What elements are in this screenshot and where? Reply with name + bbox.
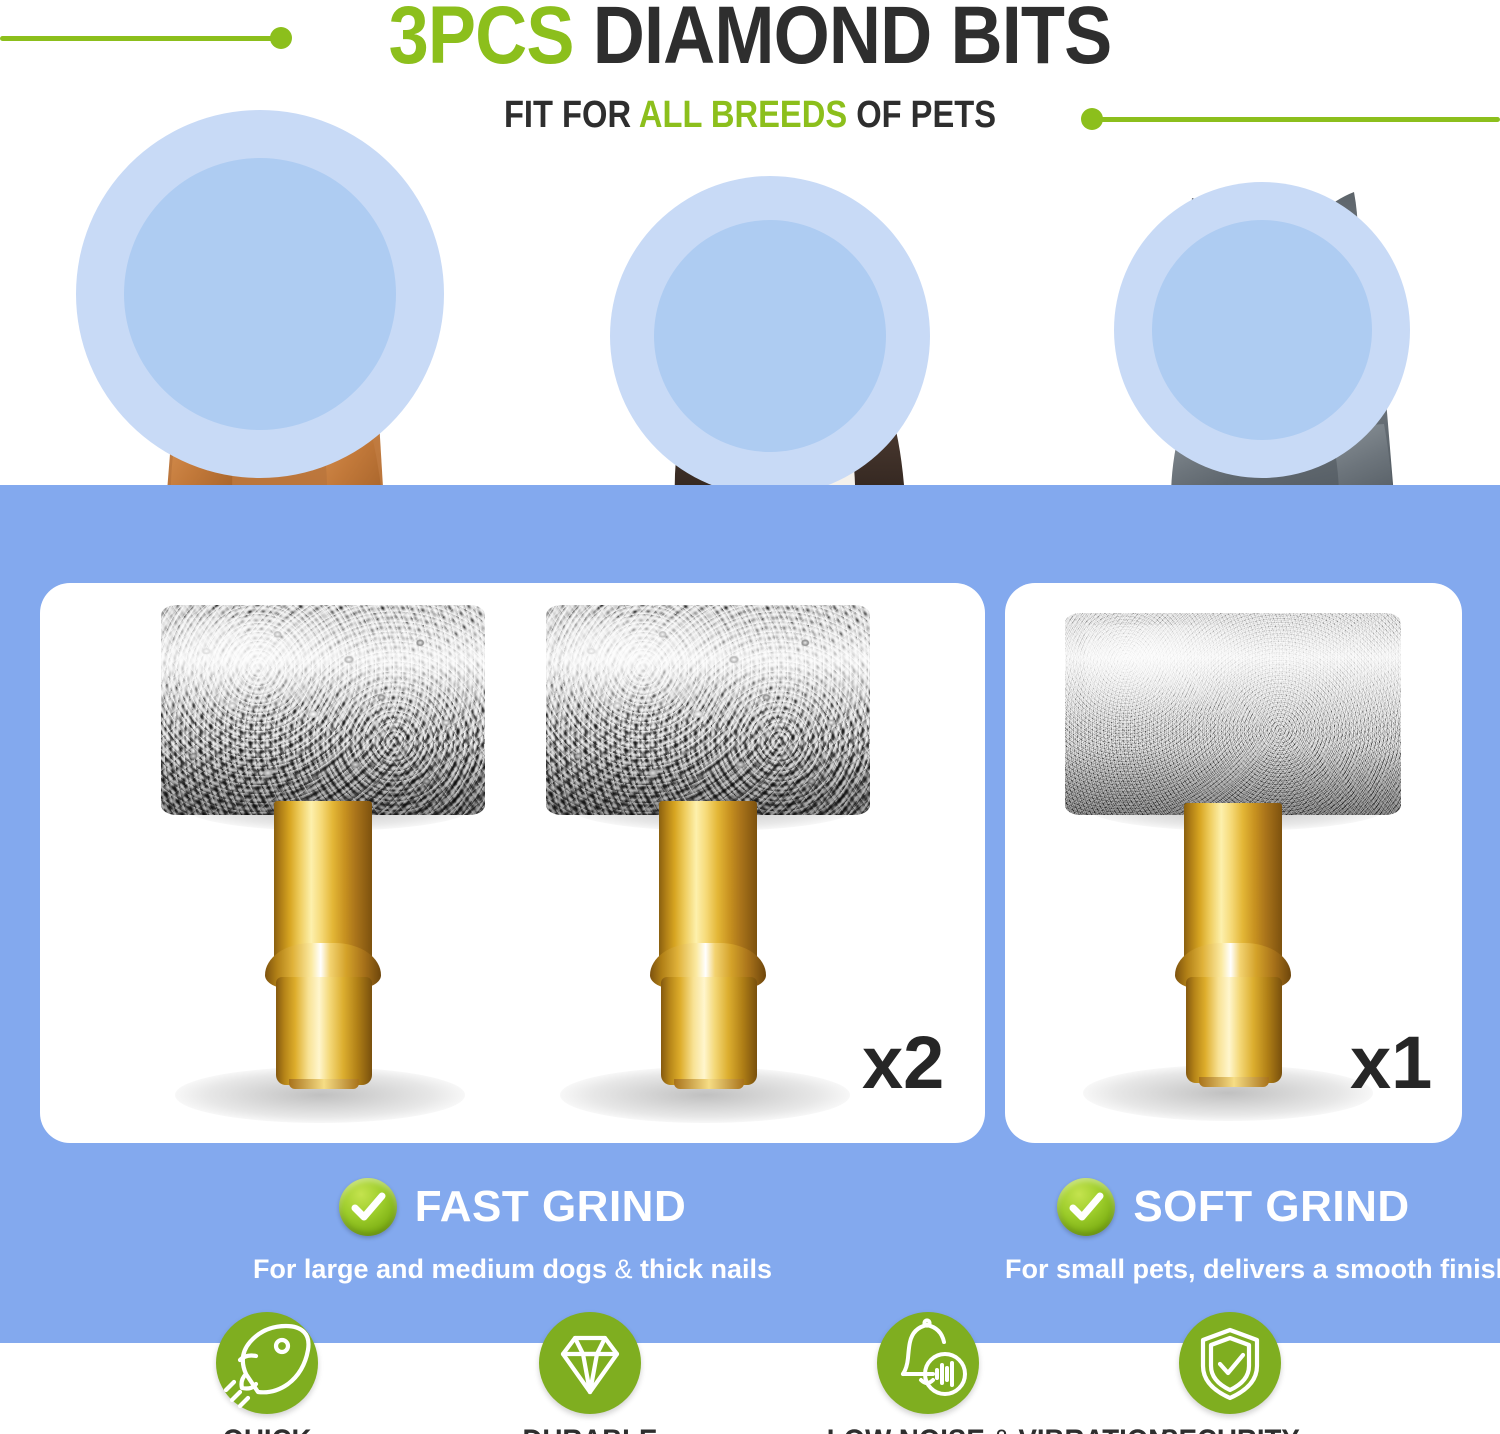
feature-title: SOFT GRIND xyxy=(1133,1185,1409,1229)
page-title: 3PCS DIAMOND BITS xyxy=(90,0,1410,77)
coarse-grit-head xyxy=(161,605,485,815)
pet-boston-terrier-dog xyxy=(600,176,970,520)
benefit-quick: QUICK xyxy=(157,1312,377,1434)
benefit-durable: DURABLE xyxy=(480,1312,700,1434)
feature-soft-grind: SOFT GRIND For small pets, delivers a sm… xyxy=(1005,1178,1462,1283)
pet-russian-blue-cat xyxy=(1100,182,1460,520)
benefit-label: QUICK xyxy=(166,1426,368,1434)
feature-subtitle-amp: & xyxy=(614,1254,632,1284)
check-circle-icon xyxy=(1057,1178,1115,1236)
diamond-icon xyxy=(539,1312,641,1414)
product-infographic: 3PCS DIAMOND BITS FIT FOR ALL BREEDS OF … xyxy=(0,0,1500,1434)
feature-title: FAST GRIND xyxy=(415,1185,686,1229)
feature-subtitle: For large and medium dogs & thick nails xyxy=(40,1256,985,1283)
feature-subtitle-tail: thick nails xyxy=(633,1254,773,1284)
feature-subtitle-main: For large and medium dogs xyxy=(253,1254,615,1284)
feature-fast-grind: FAST GRIND For large and medium dogs & t… xyxy=(40,1178,985,1283)
page-title-highlight: 3PCS xyxy=(389,0,574,81)
bell-soundwave-icon xyxy=(877,1312,979,1414)
coarse-diamond-bit-1 xyxy=(145,605,505,1125)
benefit-label-main: QUICK xyxy=(223,1424,312,1434)
rocket-icon xyxy=(216,1312,318,1414)
quantity-badge-fast-grind: x2 xyxy=(862,1026,944,1100)
pet-halo-inner xyxy=(124,158,396,430)
benefit-label: LOW NOISE & VIBRATION xyxy=(827,1426,1029,1434)
coarse-grit-head xyxy=(546,605,870,815)
fine-grit-head xyxy=(1065,613,1401,815)
benefit-label-main: DURABLE xyxy=(523,1424,658,1434)
benefit-low-noise-vibration: LOW NOISE & VIBRATION xyxy=(818,1312,1038,1434)
pet-halo-inner xyxy=(654,220,886,452)
shield-check-icon xyxy=(1179,1312,1281,1414)
coarse-diamond-bit-2 xyxy=(530,605,890,1125)
benefit-label-amp: & xyxy=(992,1424,1010,1434)
pet-vizsla-dog xyxy=(62,104,492,520)
benefit-security: SECURITY xyxy=(1120,1312,1340,1434)
benefit-label: SECURITY xyxy=(1129,1426,1331,1434)
benefit-label: DURABLE xyxy=(489,1426,691,1434)
feature-subtitle: For small pets, delivers a smooth finish xyxy=(1005,1256,1462,1283)
pets-row xyxy=(0,100,1500,520)
benefits-row: QUICK DURABLE xyxy=(0,1312,1500,1434)
quantity-badge-soft-grind: x1 xyxy=(1350,1026,1432,1100)
benefit-label-main: LOW NOISE xyxy=(827,1424,993,1434)
check-circle-icon xyxy=(339,1178,397,1236)
benefit-label-main: SECURITY xyxy=(1160,1424,1300,1434)
page-title-rest: DIAMOND BITS xyxy=(593,0,1112,81)
pet-halo-inner xyxy=(1152,220,1372,440)
feature-subtitle-main: For small pets, delivers a smooth finish xyxy=(1005,1254,1500,1284)
product-card-fast-grind xyxy=(40,583,985,1143)
